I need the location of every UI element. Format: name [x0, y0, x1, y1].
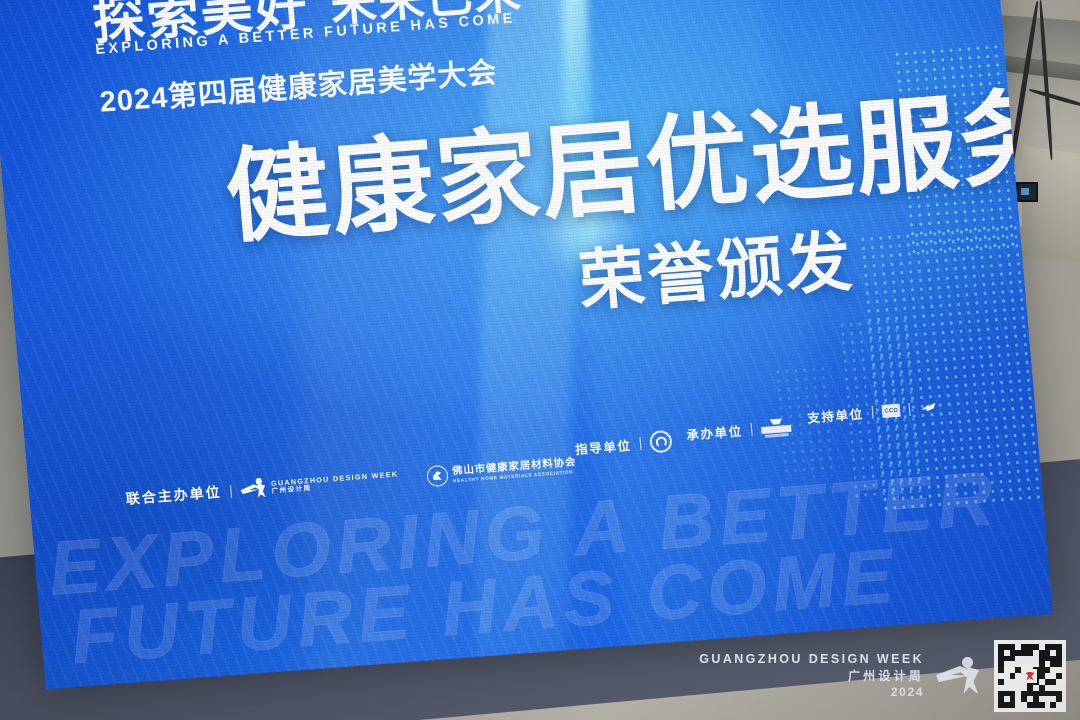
- divider: [230, 484, 232, 497]
- watermark-brand-en: GUANGZHOU DESIGN WEEK: [699, 651, 924, 668]
- divider: [751, 423, 753, 436]
- gdw-runner-icon: [936, 656, 982, 696]
- screenshot-stage: EXPLORING A BETTER FUTURE HAS COME 探索美好 …: [0, 0, 1080, 720]
- watermark-text: GUANGZHOU DESIGN WEEK 广州设计周 2024: [699, 651, 924, 700]
- ccd-mark-icon: CCD: [882, 404, 901, 418]
- host-block-icon: [761, 417, 792, 437]
- sponsor-row-guidance-unit: 指导单位: [574, 430, 673, 459]
- sponsor-label: 指导单位: [574, 434, 632, 457]
- sponsor-row-support-unit: 支持单位 CCD: [807, 398, 939, 427]
- swoosh-mark-icon: [918, 401, 938, 415]
- hhma-circle-icon: [426, 464, 449, 486]
- sponsor-label: 承办单位: [686, 421, 744, 444]
- sponsor-label: 支持单位: [807, 403, 865, 426]
- logo-guangzhou-design-week: GUANGZHOU DESIGN WEEK 广州设计周: [240, 467, 400, 501]
- led-backdrop-screen: EXPLORING A BETTER FUTURE HAS COME 探索美好 …: [0, 0, 1053, 689]
- logo-hhma: 佛山市健康家居材料协会 HEALTHY HOME MATERIALS ASSOC…: [426, 455, 578, 487]
- sponsor-row-host-unit: 承办单位: [686, 417, 793, 444]
- sponsor-label: 联合主办单位: [125, 482, 222, 509]
- qr-code-icon[interactable]: [994, 640, 1066, 712]
- photo-watermark: GUANGZHOU DESIGN WEEK 广州设计周 2024: [699, 640, 1066, 712]
- watermark-brand-cn: 广州设计周: [699, 668, 924, 684]
- electrical-junction-box: [1016, 182, 1038, 202]
- sponsor-strip: 联合主办单位 GUANGZHOU DESIGN WEEK 广州设计周 佛山市健康…: [0, 0, 1053, 689]
- wall-panel: [1022, 146, 1080, 265]
- divider: [640, 437, 642, 450]
- sponsor-row-co-organizer: 联合主办单位 GUANGZHOU DESIGN WEEK 广州设计周 佛山市健康…: [125, 454, 577, 510]
- gdw-runner-icon: [240, 477, 268, 501]
- divider: [872, 406, 874, 419]
- ring-arc-icon: [649, 430, 673, 454]
- watermark-year: 2024: [699, 684, 924, 700]
- divider: [908, 403, 910, 416]
